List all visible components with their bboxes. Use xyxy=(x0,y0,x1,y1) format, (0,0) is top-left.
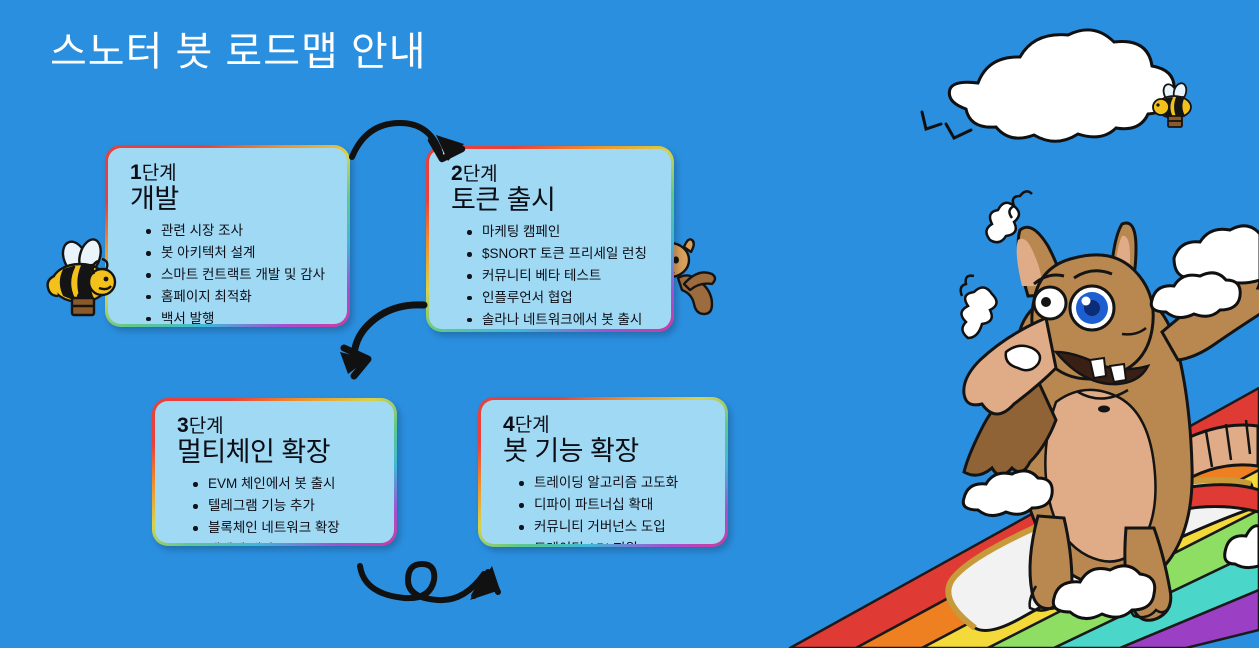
roadmap-card-2[interactable]: 2단계 토큰 출시 마케팅 캠페인 $SNORT 토큰 프리세일 런칭 커뮤니티… xyxy=(426,146,674,332)
list-item: 생태계 개발 xyxy=(193,539,378,543)
roadmap-card-3[interactable]: 3단계 멀티체인 확장 EVM 체인에서 봇 출시 텔레그램 기능 추가 블록체… xyxy=(152,398,397,546)
list-item: 블록체인 네트워크 확장 xyxy=(193,517,378,539)
card-1-stage: 1단계 xyxy=(130,162,331,184)
card-1-inner: 1단계 개발 관련 시장 조사 봇 아키텍처 설계 스마트 컨트랙트 개발 및 … xyxy=(108,148,347,324)
card-2-inner: 2단계 토큰 출시 마케팅 캠페인 $SNORT 토큰 프리세일 런칭 커뮤니티… xyxy=(429,149,671,329)
list-item: $SNORT 토큰 프리세일 런칭 xyxy=(467,243,655,265)
list-item: 커뮤니티 거버넌스 도입 xyxy=(519,516,709,538)
page-title: 스노터 봇 로드맵 안내 xyxy=(50,28,427,76)
card-4-stage: 4단계 xyxy=(503,414,709,436)
list-item: 트레이딩 알고리즘 고도화 xyxy=(519,472,709,494)
roadmap-slide: 스노터 봇 로드맵 안내 1단계 개발 관련 시장 조사 봇 아키텍처 설계 스… xyxy=(0,0,1259,648)
card-3-heading: 3단계 멀티체인 확장 xyxy=(177,415,378,467)
card-2-list: 마케팅 캠페인 $SNORT 토큰 프리세일 런칭 커뮤니티 베타 테스트 인플… xyxy=(467,221,655,329)
list-item: 트레이딩 API 지원 xyxy=(519,538,709,544)
card-4-title: 봇 기능 확장 xyxy=(503,436,709,466)
birds-icon xyxy=(922,112,971,138)
card-3-stage: 3단계 xyxy=(177,415,378,437)
list-item: 솔라나 네트워크에서 봇 출시 xyxy=(467,309,655,329)
roadmap-card-4[interactable]: 4단계 봇 기능 확장 트레이딩 알고리즘 고도화 디파이 파트너십 확대 커뮤… xyxy=(478,397,728,547)
bee-with-briefcase-icon xyxy=(1148,82,1202,138)
bee-with-briefcase-icon xyxy=(42,232,122,324)
mascot-anteater-icon xyxy=(948,223,1259,630)
card-3-stage-number: 3 xyxy=(177,414,189,437)
card-1-stage-number: 1 xyxy=(130,161,142,184)
roadmap-card-1[interactable]: 1단계 개발 관련 시장 조사 봇 아키텍처 설계 스마트 컨트랙트 개발 및 … xyxy=(105,145,350,327)
card-2-stage-number: 2 xyxy=(451,162,463,185)
list-item: 마케팅 캠페인 xyxy=(467,221,655,243)
card-2-heading: 2단계 토큰 출시 xyxy=(451,163,655,215)
card-3-inner: 3단계 멀티체인 확장 EVM 체인에서 봇 출시 텔레그램 기능 추가 블록체… xyxy=(155,401,394,543)
card-3-stage-word: 단계 xyxy=(189,416,224,437)
card-4-heading: 4단계 봇 기능 확장 xyxy=(503,414,709,466)
card-4-list: 트레이딩 알고리즘 고도화 디파이 파트너십 확대 커뮤니티 거버넌스 도입 트… xyxy=(519,472,709,544)
card-3-title: 멀티체인 확장 xyxy=(177,437,378,467)
card-2-title: 토큰 출시 xyxy=(451,185,655,215)
cloud-icon xyxy=(949,30,1174,141)
list-item: 커뮤니티 베타 테스트 xyxy=(467,265,655,287)
card-1-list: 관련 시장 조사 봇 아키텍처 설계 스마트 컨트랙트 개발 및 감사 홈페이지… xyxy=(146,220,331,324)
card-2-stage-word: 단계 xyxy=(463,164,498,185)
list-item: 스마트 컨트랙트 개발 및 감사 xyxy=(146,264,331,286)
list-item: 홈페이지 최적화 xyxy=(146,286,331,308)
list-item: 디파이 파트너십 확대 xyxy=(519,494,709,516)
list-item: 텔레그램 기능 추가 xyxy=(193,495,378,517)
list-item: EVM 체인에서 봇 출시 xyxy=(193,473,378,495)
card-3-list: EVM 체인에서 봇 출시 텔레그램 기능 추가 블록체인 네트워크 확장 생태… xyxy=(193,473,378,543)
card-1-heading: 1단계 개발 xyxy=(130,162,331,214)
cloud-icon xyxy=(963,226,1259,619)
card-4-inner: 4단계 봇 기능 확장 트레이딩 알고리즘 고도화 디파이 파트너십 확대 커뮤… xyxy=(481,400,725,544)
list-item: 인플루언서 협업 xyxy=(467,287,655,309)
smoke-icon xyxy=(961,191,1040,370)
curly-arrow-right-icon xyxy=(360,564,500,600)
list-item: 봇 아키텍처 설계 xyxy=(146,242,331,264)
list-item: 관련 시장 조사 xyxy=(146,220,331,242)
card-1-title: 개발 xyxy=(130,184,331,214)
card-2-stage: 2단계 xyxy=(451,163,655,185)
rainbow-icon xyxy=(790,388,1259,648)
card-1-stage-word: 단계 xyxy=(142,163,177,184)
card-4-stage-word: 단계 xyxy=(515,415,550,436)
curved-arrow-down-left-icon xyxy=(340,305,424,376)
list-item: 백서 발행 xyxy=(146,308,331,324)
card-4-stage-number: 4 xyxy=(503,413,515,436)
